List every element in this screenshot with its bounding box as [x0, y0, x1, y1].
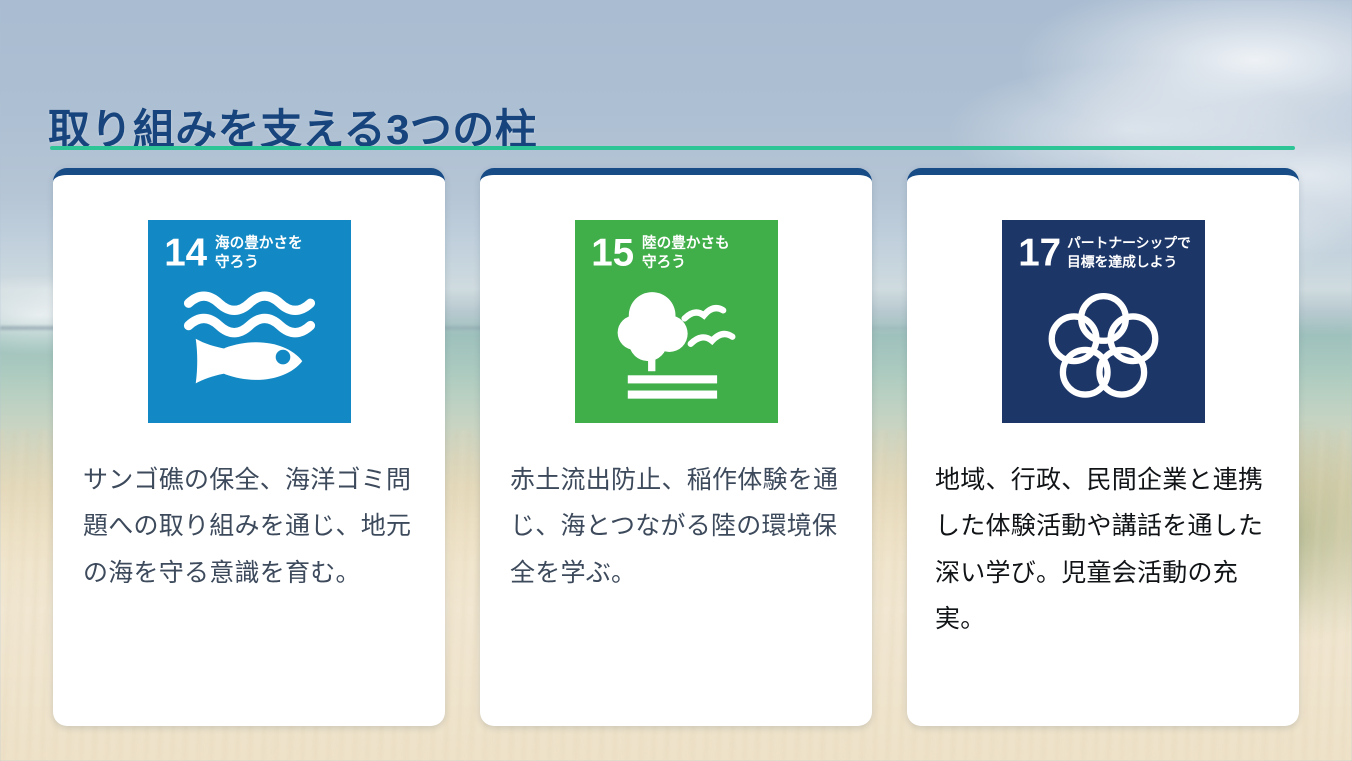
sdg-15-label-line2: 守ろう [641, 252, 685, 270]
sdg-17-badge: 17 パートナーシップで 目標を達成しよう [1002, 220, 1205, 423]
sdg-15-label-line1: 陸の豊かさも [641, 233, 729, 251]
sdg-14-label-line1: 海の豊かさを [214, 233, 302, 251]
sdg-15-number: 15 [591, 232, 634, 275]
pillar-card-sdg17-body: 地域、行政、民間企業と連携した体験活動や講話を通した深い学び。児童会活動の充実。 [935, 457, 1277, 642]
slide-canvas: 取り組みを支える3つの柱 14 海の豊かさを 守ろう [0, 0, 1352, 761]
sdg-14-badge: 14 海の豊かさを 守ろう [148, 220, 351, 423]
sdg-14-label-line2: 守ろう [214, 252, 258, 270]
sdg-17-label-line2: 目標を達成しよう [1066, 253, 1176, 269]
sdg-17-number: 17 [1018, 232, 1061, 275]
title-underline-rule [50, 146, 1295, 150]
pillar-card-sdg14-body: サンゴ礁の保全、海洋ゴミ問題への取り組みを通じ、地元の海を守る意識を育む。 [83, 457, 415, 596]
sdg-14-number: 14 [164, 232, 207, 275]
pillar-card-row: 14 海の豊かさを 守ろう サンゴ礁の保全、海洋ゴミ問 [53, 168, 1299, 726]
sdg-15-badge: 15 陸の豊かさも 守ろう [575, 220, 778, 423]
pillar-card-sdg17[interactable]: 17 パートナーシップで 目標を達成しよう 地域、行政、民間企業と連携した体験活… [907, 168, 1299, 726]
pillar-card-sdg15[interactable]: 15 陸の豊かさも 守ろう [480, 168, 872, 726]
pillar-card-sdg15-body: 赤土流出防止、稲作体験を通じ、海とつながる陸の環境保全を学ぶ。 [510, 457, 842, 596]
pillar-card-sdg14[interactable]: 14 海の豊かさを 守ろう サンゴ礁の保全、海洋ゴミ問 [53, 168, 445, 726]
sdg-17-label-line1: パートナーシップで [1066, 235, 1190, 250]
